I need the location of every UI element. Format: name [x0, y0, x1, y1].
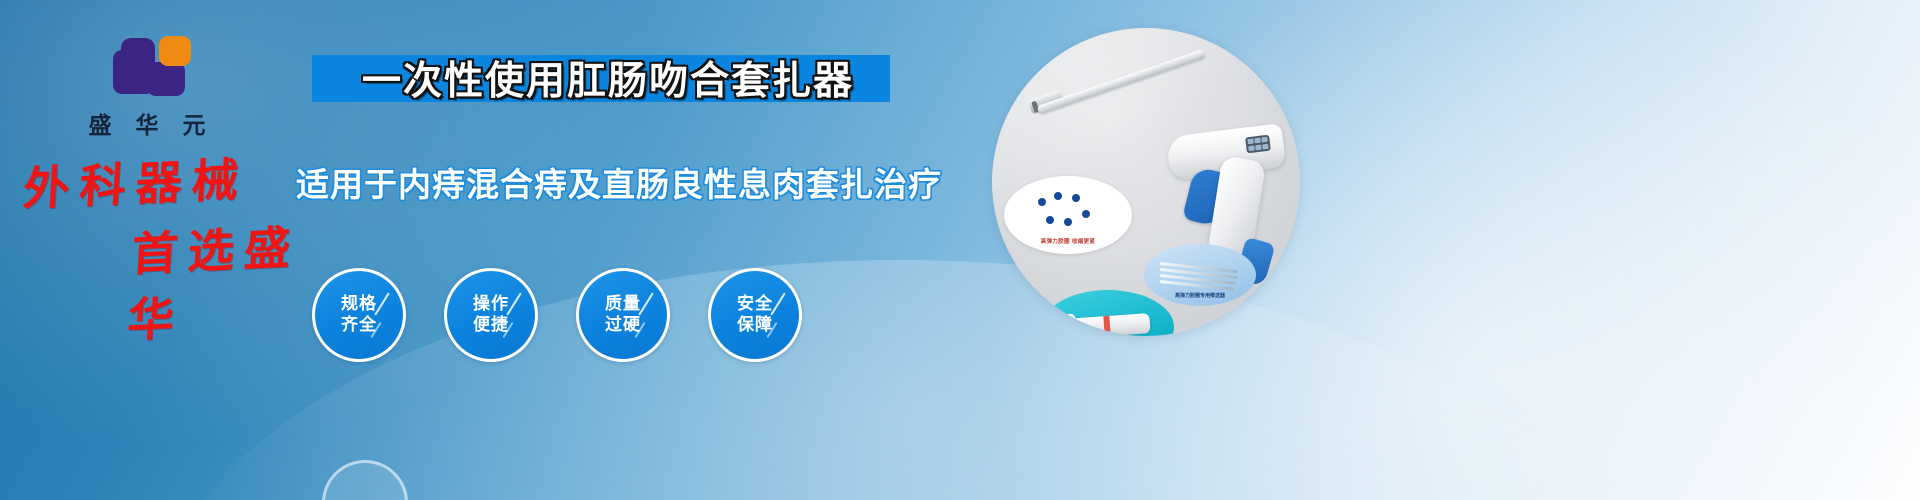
feature-badge-line-1: 质量 — [605, 294, 641, 315]
rubber-band-dots-icon — [1038, 192, 1100, 232]
logo-block-top-left — [121, 38, 155, 72]
feature-badge-line-1: 安全 — [737, 294, 773, 315]
feature-badge-specification[interactable]: 规格 齐全 — [312, 268, 406, 362]
decorative-bottom-circle — [322, 460, 408, 500]
page-title: 一次性使用肛肠吻合套扎器 — [318, 52, 898, 104]
shenghuayuan-blocks-logo-icon — [101, 28, 193, 100]
inset-rubber-bands: 高弹力胶圈 收缩更紧 — [1004, 176, 1132, 254]
feature-badge-line-1: 规格 — [341, 294, 377, 315]
feature-badge-operation[interactable]: 操作 便捷 — [444, 268, 538, 362]
slogan-line-2: 首选盛华 — [13, 209, 352, 355]
ligation-tube-cap — [1061, 314, 1077, 336]
feature-badge-line-1: 操作 — [473, 294, 509, 315]
brand-logo[interactable]: 盛 华 元 — [62, 28, 232, 140]
inset-pusher-rods: 高弹力胶圈专用推送器 — [1144, 244, 1256, 306]
feature-badge-safety[interactable]: 安全 保障 — [708, 268, 802, 362]
brand-name: 盛 华 元 — [62, 106, 232, 140]
feature-badge-list: 规格 齐全 操作 便捷 质量 过硬 安全 保障 — [312, 268, 802, 362]
inset-pusher-rods-caption: 高弹力胶圈专用推送器 — [1144, 292, 1256, 299]
device-button-pad-icon — [1245, 135, 1271, 154]
feature-badge-quality[interactable]: 质量 过硬 — [576, 268, 670, 362]
inset-rubber-bands-caption: 高弹力胶圈 收缩更紧 — [1004, 237, 1132, 245]
page-subtitle: 适用于内痔混合痔及直肠良性息肉套扎治疗 — [296, 158, 896, 206]
product-photo: 高弹力胶圈 收缩更紧 高弹力胶圈专用推送器 — [992, 28, 1300, 336]
logo-block-orange — [159, 36, 191, 66]
